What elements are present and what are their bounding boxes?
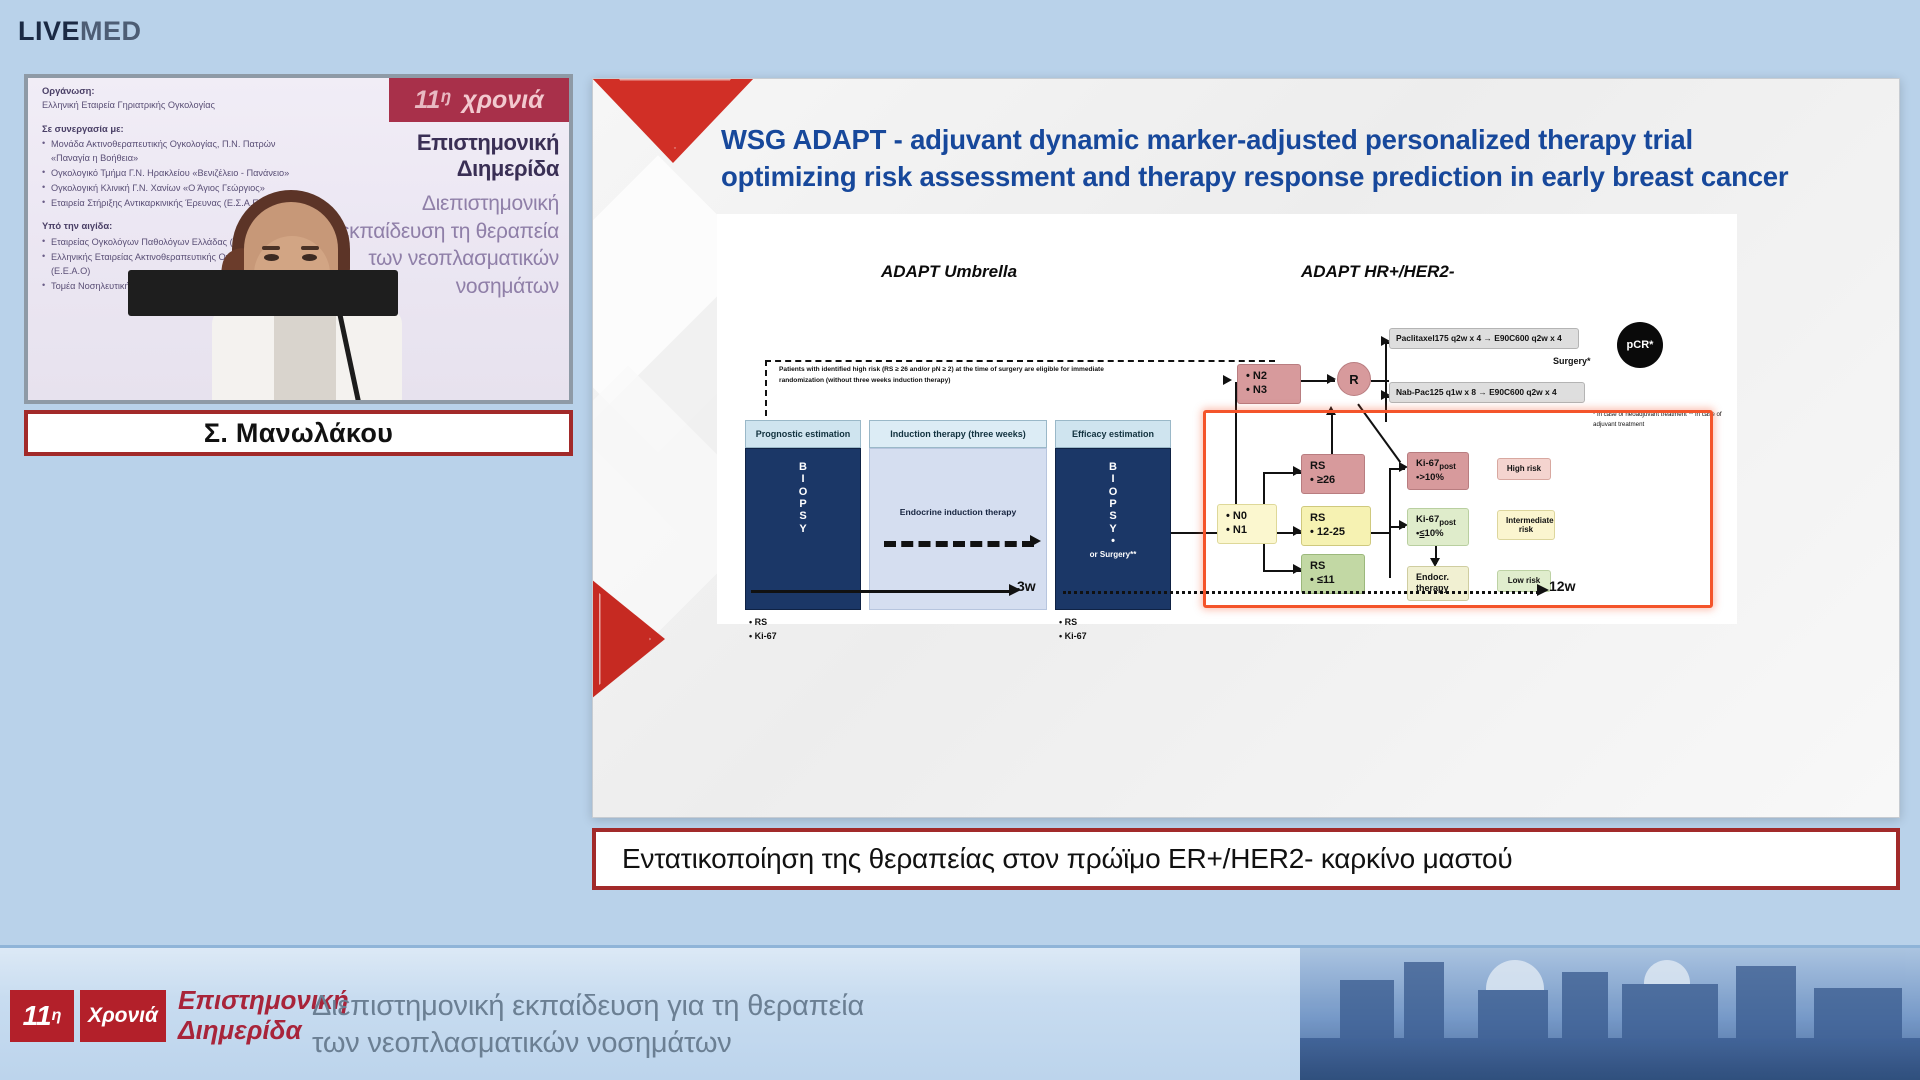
speaker-name-bar: Σ. Μανωλάκου [24, 410, 573, 456]
slide-caption-bar: Εντατικοποίηση της θεραπείας στον πρώϊμο… [592, 828, 1900, 890]
connector-line [1389, 468, 1391, 578]
speaker-brow-right [301, 246, 319, 250]
bullet-rs-left: RS [755, 617, 768, 627]
banner-subtitle-line-2: των νεοπλασματικών νοσημάτων [312, 1025, 1142, 1062]
speaker-eye-right [302, 254, 317, 261]
banner-chronia-badge: Χρονιά [80, 990, 166, 1042]
poster-title-main: Επιστημονική Διημερίδα [319, 130, 559, 182]
node-intermediate-risk: Intermediate risk [1497, 510, 1555, 540]
list-item: Μονάδα Ακτινοθεραπευτικής Ογκολογίας, Π.… [42, 138, 292, 166]
poster-org-label: Οργάνωση: [42, 85, 94, 96]
poster-coop-label: Σε συνεργασία με: [42, 123, 124, 134]
slide-title-line-2: optimizing risk assessment and therapy r… [721, 158, 1881, 195]
node-nab-paclitaxel: Nab-Pac125 q1w x 8 → E90C600 q2w x 4 [1389, 382, 1585, 403]
banner-subtitle: Διεπιστημονική εκπαίδευση για τη θεραπεί… [312, 988, 1142, 1062]
node-randomization: R [1337, 362, 1371, 396]
slide-caption-text: Εντατικοποίηση της θεραπείας στον πρώϊμο… [622, 843, 1513, 875]
artwork-building [1736, 966, 1796, 1038]
podium-laptop [128, 270, 398, 316]
timeline-label-3w: 3w [1017, 578, 1036, 594]
timeline-solid-line [751, 590, 1011, 593]
artwork-building [1340, 980, 1394, 1038]
artwork-dome-icon [1644, 960, 1690, 984]
node-endocrine-therapy: Endocr.therapy [1407, 566, 1469, 601]
speaker-panel[interactable]: Οργάνωση: Ελληνική Εταιρεία Γηριατρικής … [24, 74, 573, 456]
artwork-building [1404, 962, 1444, 1038]
label-surgery: Surgery* [1553, 356, 1591, 366]
diagram-bullets-left: • RS • Ki-67 [749, 616, 777, 643]
diagram-bullets-right: • RS • Ki-67 [1059, 616, 1087, 643]
presentation-slide[interactable]: WSG ADAPT - adjuvant dynamic marker-adju… [592, 78, 1900, 818]
diagram-heading-hr-her2: ADAPT HR+/HER2- [1301, 262, 1455, 282]
banner-edition-badge: 11η [10, 990, 74, 1042]
node-n0-n1: • N0• N1 [1217, 504, 1277, 544]
poster-org-value: Ελληνική Εταιρεία Γηριατρικής Ογκολογίας [42, 99, 292, 113]
banner-edition-number: 11 [23, 1000, 52, 1032]
bullet-ki67-left: Ki-67 [755, 631, 777, 641]
list-item: Ογκολογικό Τμήμα Γ.Ν. Ηρακλείου «Βενιζέλ… [42, 167, 292, 181]
connector-line [1371, 532, 1391, 534]
induction-arrow [884, 541, 1034, 547]
node-ki67-low: Ki-67post•≤10% [1407, 508, 1469, 546]
diagram-column-header-efficacy: Efficacy estimation [1055, 420, 1171, 448]
induction-arrowhead-icon [1030, 535, 1041, 547]
diagram-column-header-induction: Induction therapy (three weeks) [869, 420, 1047, 448]
artwork-building [1622, 984, 1718, 1038]
node-high-risk: High risk [1497, 458, 1551, 480]
slide-title-line-1: WSG ADAPT - adjuvant dynamic marker-adju… [721, 121, 1881, 158]
node-paclitaxel: Paclitaxel175 q2w x 4 → E90C600 q2w x 4 [1389, 328, 1579, 349]
diagram-column-header-prognostic: Prognostic estimation [745, 420, 861, 448]
logo-med-text: MED [80, 16, 142, 46]
livemed-logo: LIVEMED [18, 16, 142, 47]
timeline-dotted-line [1063, 591, 1539, 594]
banner-city-artwork [1300, 945, 1920, 1080]
banner-subtitle-line-1: Διεπιστημονική εκπαίδευση για τη θεραπεί… [312, 988, 1142, 1025]
bullet-rs-right: RS [1065, 617, 1078, 627]
node-pcr: pCR* [1617, 322, 1663, 368]
list-item: Ογκολογική Κλινική Γ.Ν. Χανίων «Ο Άγιος … [42, 182, 292, 196]
diagram-note-dashed-line [765, 360, 1275, 362]
diagram-biopsy-box-2: BIOPSY• or Surgery** [1055, 448, 1171, 610]
slide-title: WSG ADAPT - adjuvant dynamic marker-adju… [721, 121, 1881, 196]
diagram-note-text: Patients with identified high risk (RS ≥… [779, 365, 1109, 387]
induction-therapy-label: Endocrine induction therapy [870, 507, 1046, 517]
node-ki67-high: Ki-67post•>10% [1407, 452, 1469, 490]
poster-badge-word: χρονιά [462, 86, 543, 115]
poster-aegis-label: Υπό την αιγίδα: [42, 220, 112, 231]
connector-arrowhead-icon [1223, 375, 1232, 385]
node-rs-11: RS• ≤11 [1301, 554, 1365, 594]
speaker-video-frame[interactable]: Οργάνωση: Ελληνική Εταιρεία Γηριατρικής … [24, 74, 573, 404]
diagram-note-dashed-connector [765, 360, 767, 416]
artwork-building [1814, 988, 1902, 1038]
timeline-arrowhead-icon-2 [1537, 584, 1549, 596]
logo-live-text: LIVE [18, 16, 80, 46]
artwork-dome-icon [1486, 960, 1544, 990]
banner-edition-sup: η [52, 1007, 62, 1025]
bullet-ki67-right: Ki-67 [1065, 631, 1087, 641]
speaker-name: Σ. Μανωλάκου [204, 418, 393, 449]
biopsy-label-2: BIOPSY• [1056, 461, 1170, 547]
artwork-waterfront [1300, 1038, 1920, 1080]
node-n2-n3: • N2• N3 [1237, 364, 1301, 404]
node-rs-26: RS• ≥26 [1301, 454, 1365, 494]
biopsy-label-1: BIOPSY [746, 461, 860, 535]
node-rs-12-25: RS• 12-25 [1301, 506, 1371, 546]
artwork-building [1478, 990, 1548, 1038]
artwork-building [1562, 972, 1608, 1038]
speaker-brow-left [262, 246, 280, 250]
diagram-biopsy-box-1: BIOPSY [745, 448, 861, 610]
speaker-jacket [212, 308, 402, 404]
diagram-heading-umbrella: ADAPT Umbrella [881, 262, 1017, 282]
connector-line [1385, 342, 1387, 422]
diagram-footnote: * in case of neoadjuvant treatment ** in… [1593, 410, 1737, 430]
timeline-label-12w: 12w [1549, 578, 1575, 594]
poster-anniversary-badge: 11ᵑ χρονιά [389, 78, 569, 122]
speaker-eye-left [264, 254, 279, 261]
connector-arrowhead-icon [1327, 374, 1336, 384]
poster-badge-number: 11ᵑ [414, 86, 450, 115]
adapt-trial-diagram: ADAPT Umbrella ADAPT HR+/HER2- Patients … [717, 214, 1737, 624]
biopsy-or-surgery-label: or Surgery** [1056, 551, 1170, 560]
bottom-banner: 11η Χρονιά Επιστημονική Διημερίδα Διεπισ… [0, 945, 1920, 1080]
connector-arrowhead-icon [1326, 406, 1336, 415]
